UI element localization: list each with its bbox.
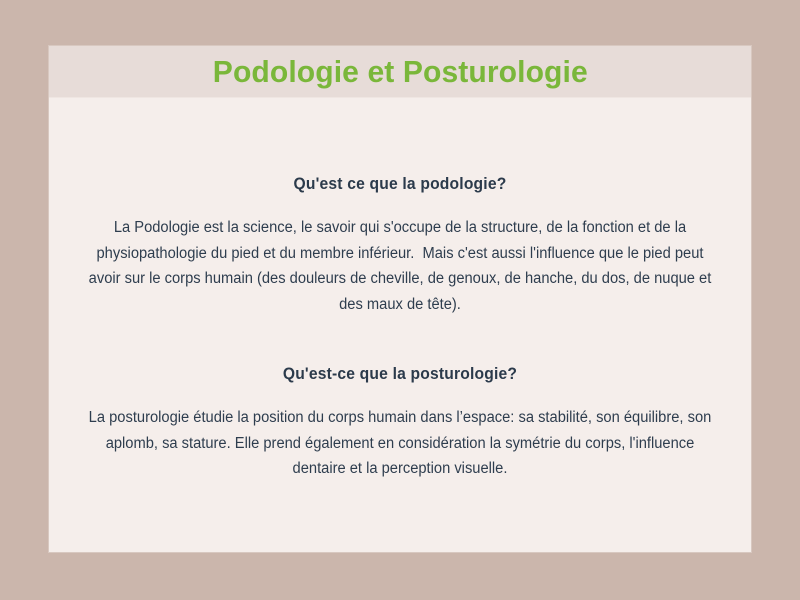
slide-title-band: Podologie et Posturologie <box>49 46 751 98</box>
section-text-podologie: La Podologie est la science, le savoir q… <box>80 215 720 317</box>
page-title: Podologie et Posturologie <box>213 56 588 87</box>
section-text-posturologie: La posturologie étudie la position du co… <box>80 405 720 482</box>
section-heading-posturologie: Qu'est-ce que la posturologie? <box>92 364 708 384</box>
section-podologie: Qu'est ce que la podologie? La Podologie… <box>65 174 735 317</box>
section-heading-podologie: Qu'est ce que la podologie? <box>92 174 708 194</box>
slide-content: Qu'est ce que la podologie? La Podologie… <box>49 98 751 552</box>
section-posturologie: Qu'est-ce que la posturologie? La postur… <box>65 364 735 482</box>
slide-root: Podologie et Posturologie Qu'est ce que … <box>0 0 800 600</box>
slide-panel: Podologie et Posturologie Qu'est ce que … <box>48 45 752 553</box>
